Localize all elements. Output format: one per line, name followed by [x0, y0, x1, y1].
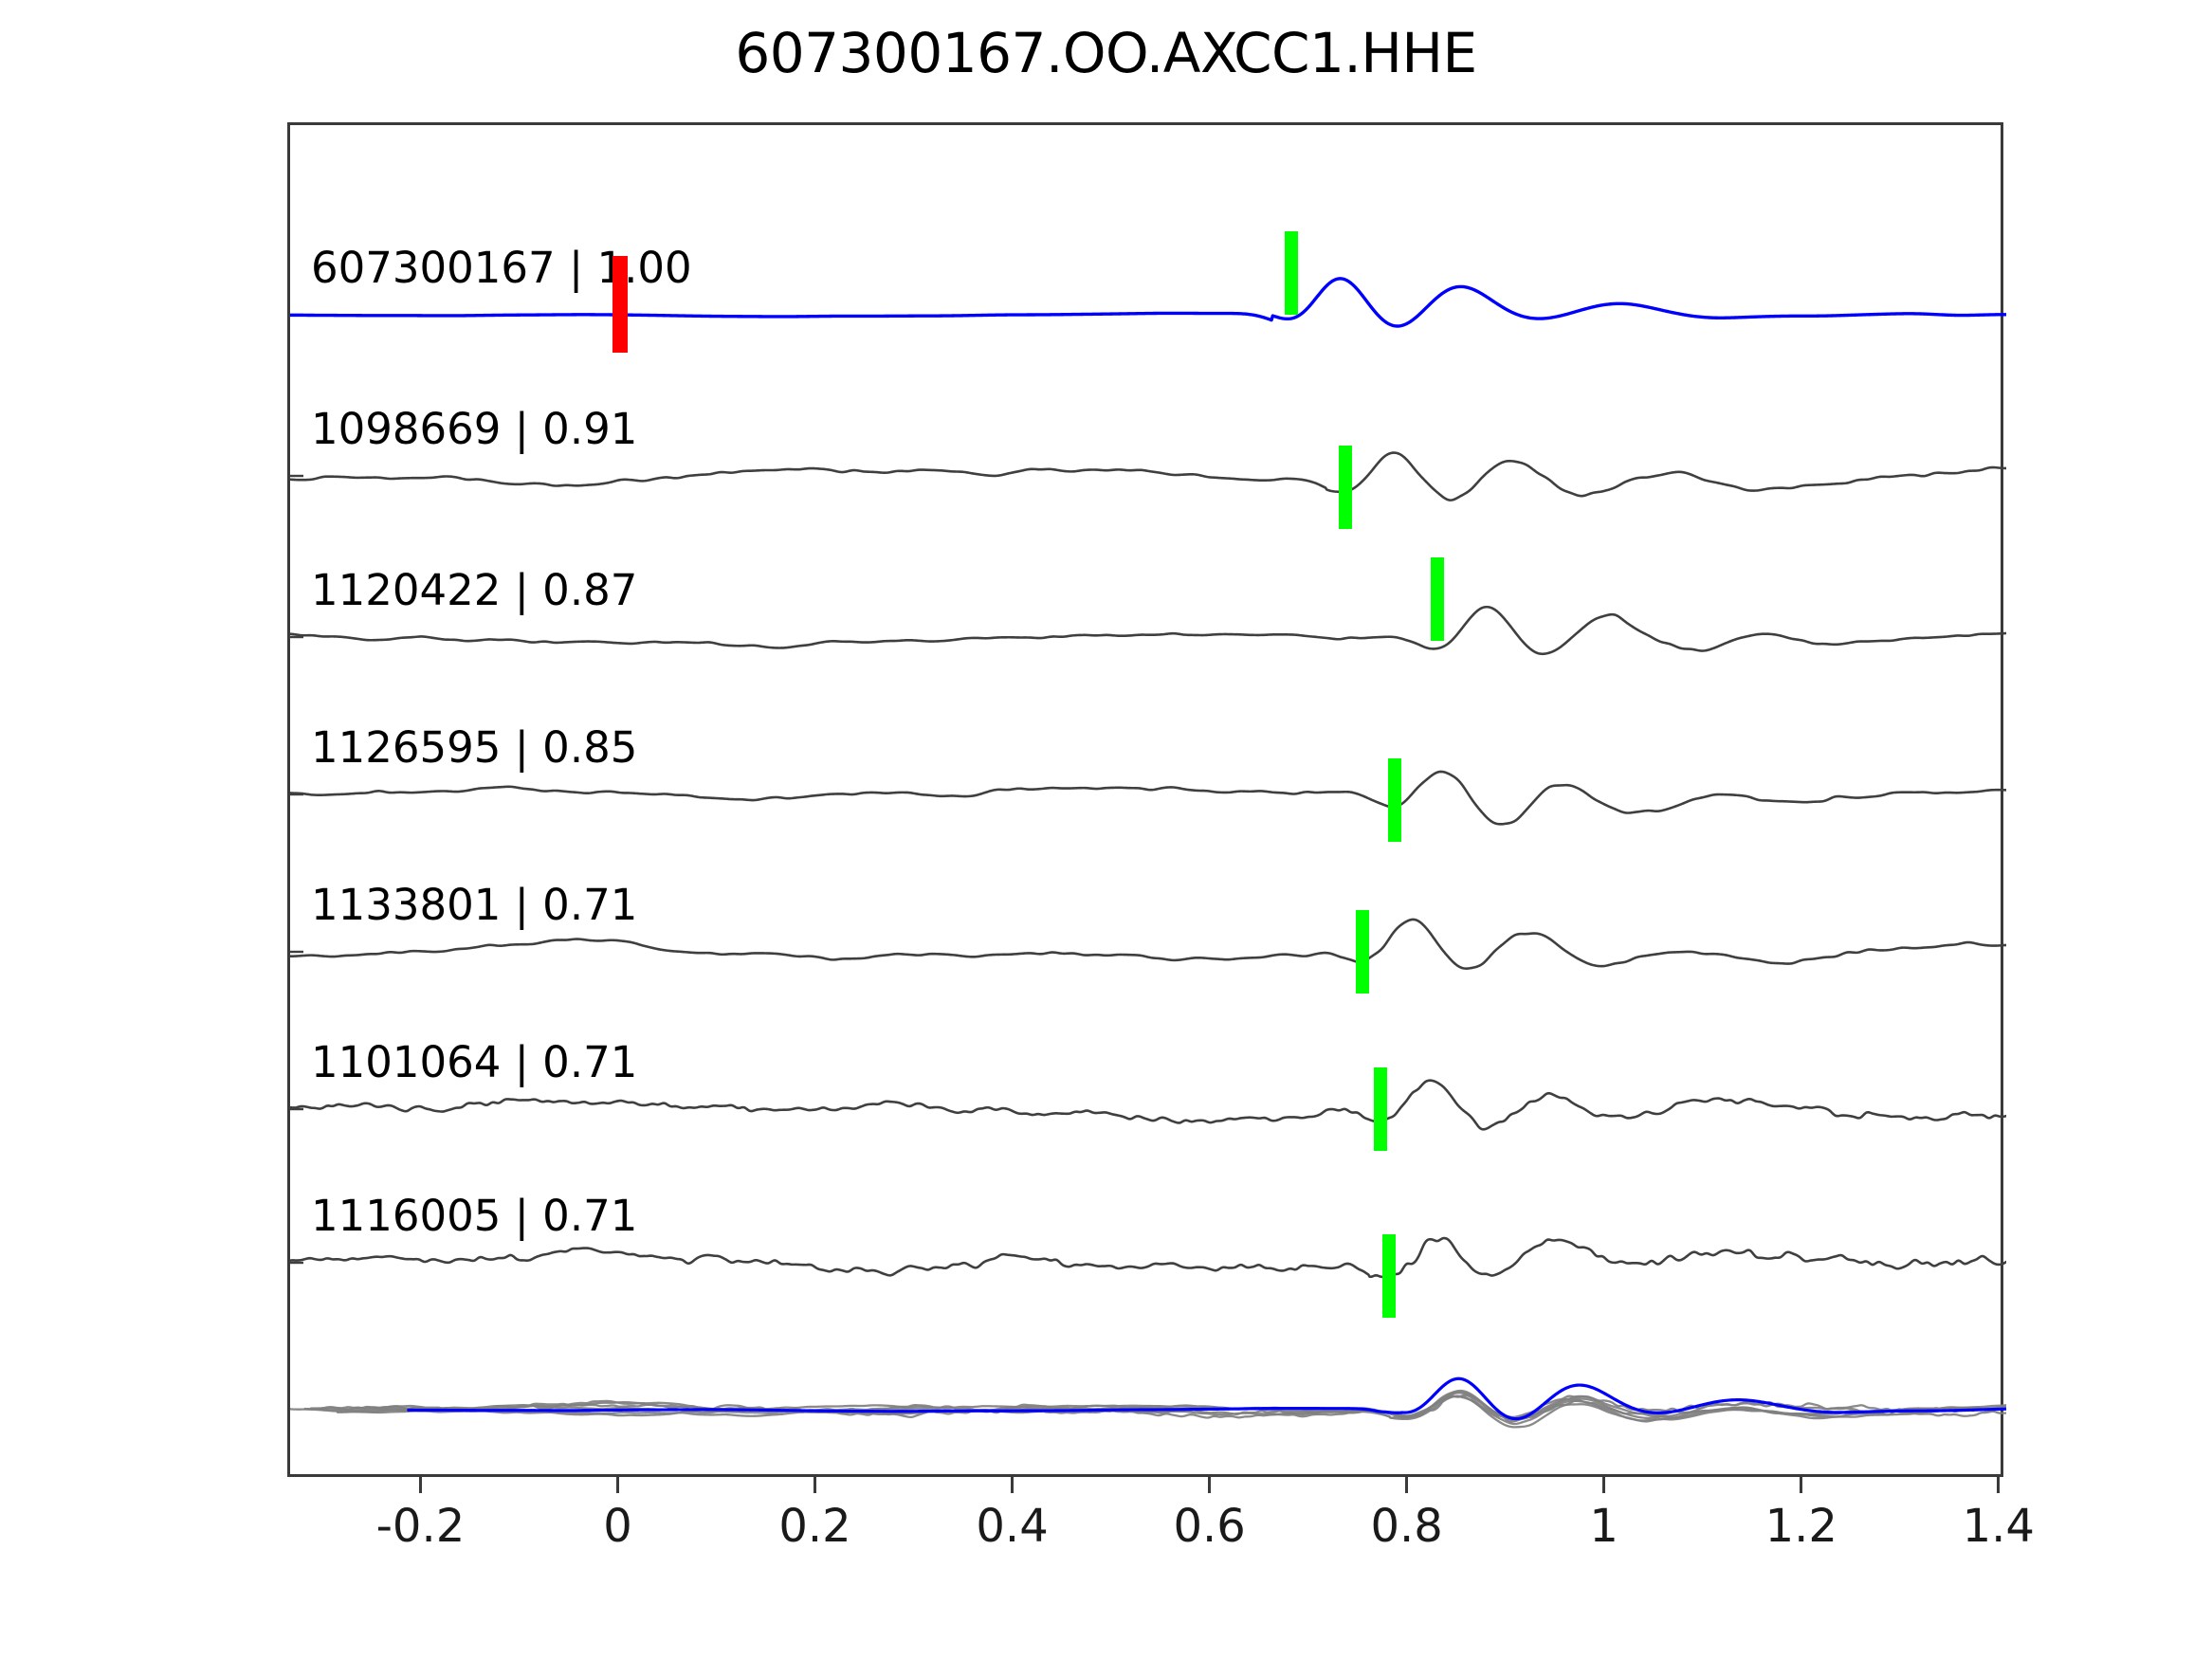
x-tick-mark: [1208, 1477, 1211, 1493]
trace-label-1126595: 1126595 | 0.85: [311, 722, 637, 773]
trace-label-1098669: 1098669 | 0.91: [311, 404, 637, 454]
trace-label-1101064: 1101064 | 0.71: [311, 1037, 637, 1087]
plot-axes-frame: 607300167 | 1.001098669 | 0.911120422 | …: [287, 122, 2003, 1477]
x-tick-mark: [1997, 1477, 2000, 1493]
trace-label-1133801: 1133801 | 0.71: [311, 880, 637, 930]
pick-marker-1126595: [1388, 758, 1401, 842]
x-tick-label: 0.4: [976, 1500, 1048, 1553]
x-tick-label: -0.2: [376, 1500, 466, 1553]
x-tick-label: 1: [1589, 1500, 1618, 1553]
trace-label-607300167: 607300167 | 1.00: [311, 243, 692, 293]
x-tick-mark: [814, 1477, 816, 1493]
page-title: 607300167.OO.AXCC1.HHE: [0, 21, 2212, 85]
pick-marker-1098669: [1339, 446, 1352, 529]
x-tick-label: 0.8: [1370, 1500, 1442, 1553]
pick-marker-1101064: [1374, 1067, 1387, 1151]
origin-marker-607300167: [612, 256, 628, 353]
waveform-path: [290, 772, 2006, 824]
pick-marker-1120422: [1431, 557, 1444, 641]
trace-label-1120422: 1120422 | 0.87: [311, 565, 637, 615]
pick-marker-607300167: [1285, 231, 1298, 315]
x-tick-mark: [419, 1477, 422, 1493]
waveform-path: [290, 453, 2006, 501]
x-tick-mark: [1602, 1477, 1605, 1493]
x-tick-label: 1.4: [1963, 1500, 2035, 1553]
x-axis-ticks: -0.200.20.40.60.811.21.4: [287, 1477, 2003, 1591]
waveform-canvas: [290, 125, 2006, 1480]
x-tick-label: 0.2: [778, 1500, 850, 1553]
waveform-path: [290, 1238, 2006, 1277]
x-tick-mark: [616, 1477, 619, 1493]
x-tick-label: 0.6: [1173, 1500, 1245, 1553]
x-tick-mark: [1405, 1477, 1408, 1493]
x-tick-mark: [1800, 1477, 1802, 1493]
x-tick-label: 0: [603, 1500, 632, 1553]
pick-marker-1116005: [1382, 1234, 1396, 1318]
pick-marker-1133801: [1356, 910, 1369, 994]
x-tick-label: 1.2: [1765, 1500, 1837, 1553]
seismic-waveform-figure: 607300167.OO.AXCC1.HHE 607300167 | 1.001…: [0, 0, 2212, 1659]
x-tick-mark: [1011, 1477, 1014, 1493]
waveform-path: [290, 1081, 2006, 1130]
trace-label-1116005: 1116005 | 0.71: [311, 1191, 637, 1241]
